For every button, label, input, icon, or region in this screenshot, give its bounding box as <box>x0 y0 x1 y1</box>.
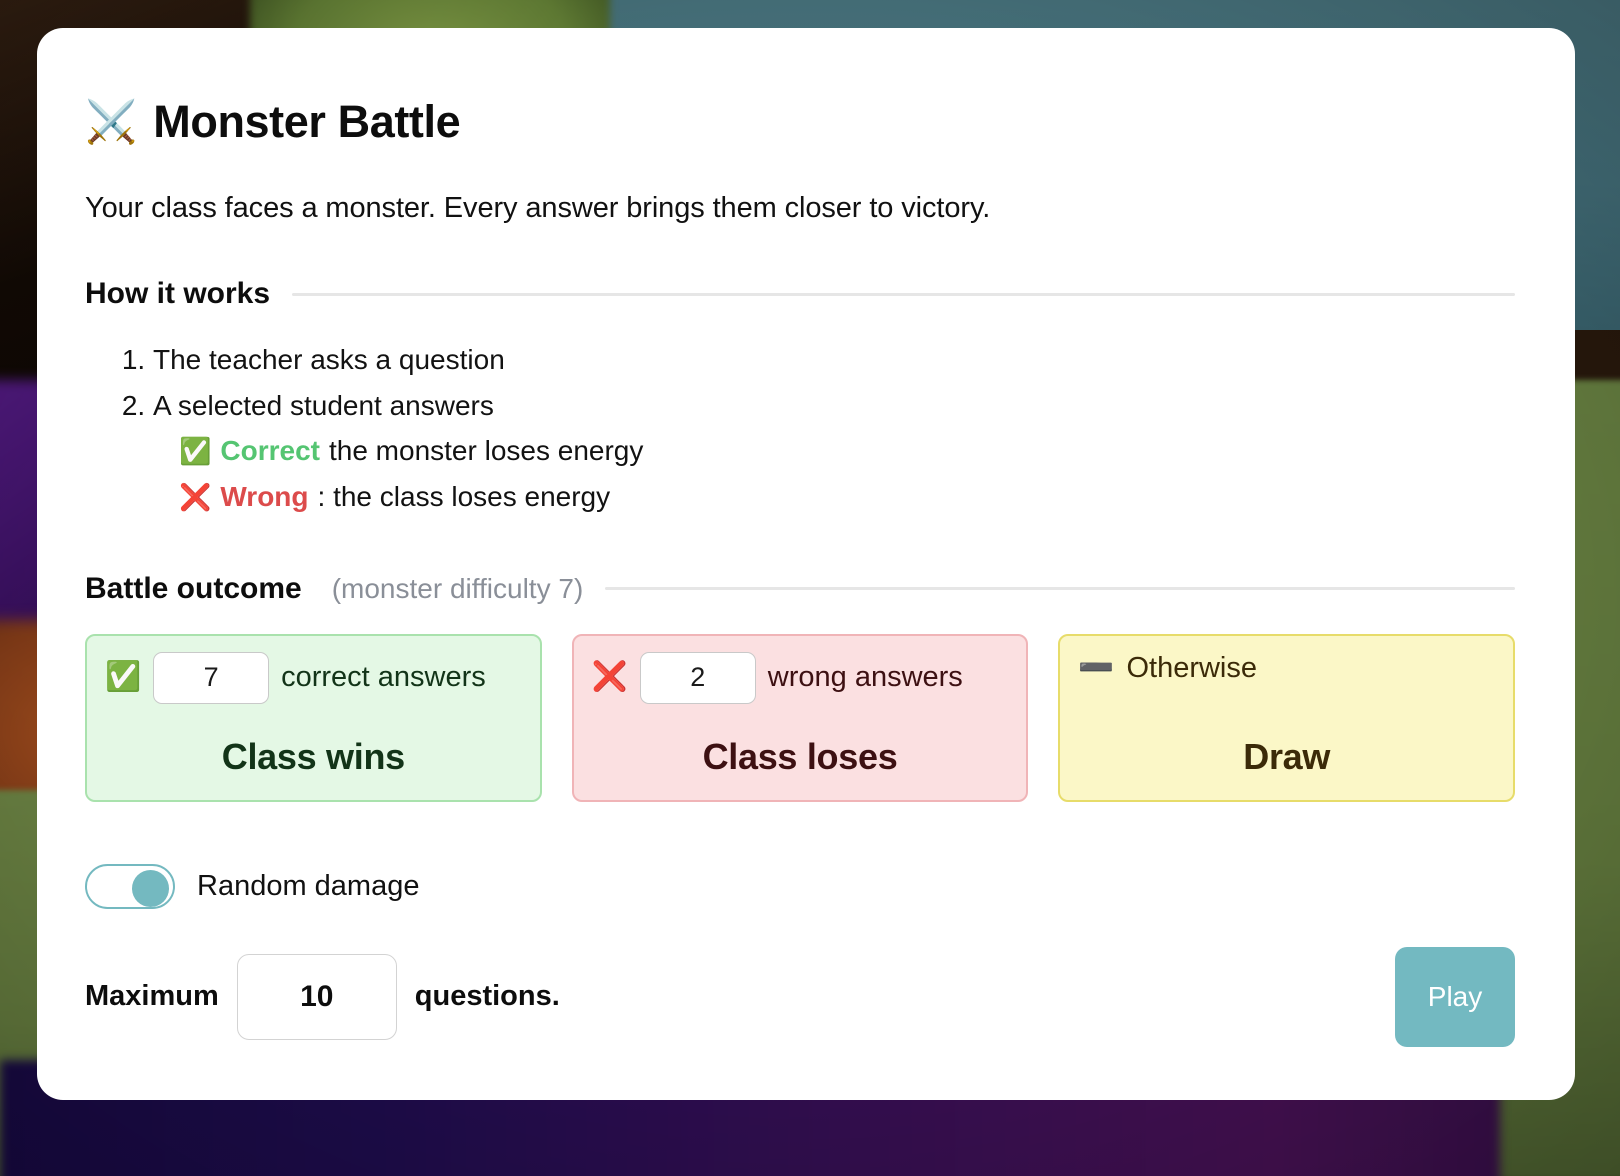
questions-label: questions. <box>415 980 560 1013</box>
page-title: Monster Battle <box>153 96 460 148</box>
verdict-class-wins: Class wins <box>105 722 522 778</box>
correct-answers-label: correct answers <box>281 661 486 694</box>
section-divider <box>292 293 1515 296</box>
check-mark-button-icon: ✅ <box>105 663 141 692</box>
cross-mark-icon: ❌ <box>179 476 211 518</box>
check-mark-button-icon: ✅ <box>179 430 211 472</box>
minus-icon: ➖ <box>1078 654 1114 683</box>
monster-battle-dialog: ⚔️ Monster Battle Your class faces a mon… <box>37 28 1575 1100</box>
dialog-footer: Maximum questions. Play <box>85 947 1515 1047</box>
outcome-card-draw: ➖ Otherwise Draw <box>1058 634 1515 802</box>
monster-difficulty-hint: (monster difficulty 7) <box>332 573 584 605</box>
outcome-rule-wrong: ❌ Wrong : the class loses energy <box>153 474 1515 520</box>
step-text: A selected student answers <box>153 390 494 421</box>
toggle-knob <box>132 870 169 907</box>
wrong-description: : the class loses energy <box>318 474 611 520</box>
wrong-tag: Wrong <box>220 474 308 520</box>
how-it-works-header: How it works <box>85 277 1515 311</box>
list-item: The teacher asks a question <box>153 337 1515 383</box>
how-it-works-heading: How it works <box>85 277 270 311</box>
outcome-rule-correct: ✅ Correct the monster loses energy <box>153 428 1515 474</box>
correct-answers-input[interactable] <box>153 652 269 704</box>
maximum-questions-group: Maximum questions. <box>85 954 560 1040</box>
outcome-card-class-loses: ❌ wrong answers Class loses <box>572 634 1029 802</box>
maximum-label: Maximum <box>85 980 219 1013</box>
maximum-questions-input[interactable] <box>237 954 397 1040</box>
battle-outcome-header: Battle outcome (monster difficulty 7) <box>85 572 1515 606</box>
outcome-card-condition: ❌ wrong answers <box>592 652 1009 704</box>
random-damage-row: Random damage <box>85 864 1515 909</box>
outcome-card-condition: ✅ correct answers <box>105 652 522 704</box>
verdict-class-loses: Class loses <box>592 722 1009 778</box>
correct-tag: Correct <box>220 428 320 474</box>
wrong-answers-input[interactable] <box>640 652 756 704</box>
how-it-works-steps: The teacher asks a question A selected s… <box>85 337 1515 520</box>
verdict-draw: Draw <box>1078 722 1495 778</box>
correct-description: the monster loses energy <box>329 428 643 474</box>
step-text: The teacher asks a question <box>153 344 505 375</box>
battle-outcome-heading: Battle outcome <box>85 572 302 606</box>
wrong-answers-label: wrong answers <box>768 661 963 694</box>
dialog-subtitle: Your class faces a monster. Every answer… <box>85 192 1515 225</box>
outcome-card-class-wins: ✅ correct answers Class wins <box>85 634 542 802</box>
outcome-cards: ✅ correct answers Class wins ❌ wrong ans… <box>85 634 1515 802</box>
random-damage-label: Random damage <box>197 870 419 903</box>
cross-mark-icon: ❌ <box>592 663 628 692</box>
section-divider <box>605 587 1515 590</box>
outcome-card-condition: ➖ Otherwise <box>1078 652 1495 685</box>
otherwise-label: Otherwise <box>1126 652 1257 685</box>
list-item: A selected student answers ✅ Correct the… <box>153 383 1515 520</box>
random-damage-toggle[interactable] <box>85 864 175 909</box>
crossed-swords-icon: ⚔️ <box>85 101 137 143</box>
play-button[interactable]: Play <box>1395 947 1515 1047</box>
dialog-header: ⚔️ Monster Battle <box>85 96 1515 148</box>
